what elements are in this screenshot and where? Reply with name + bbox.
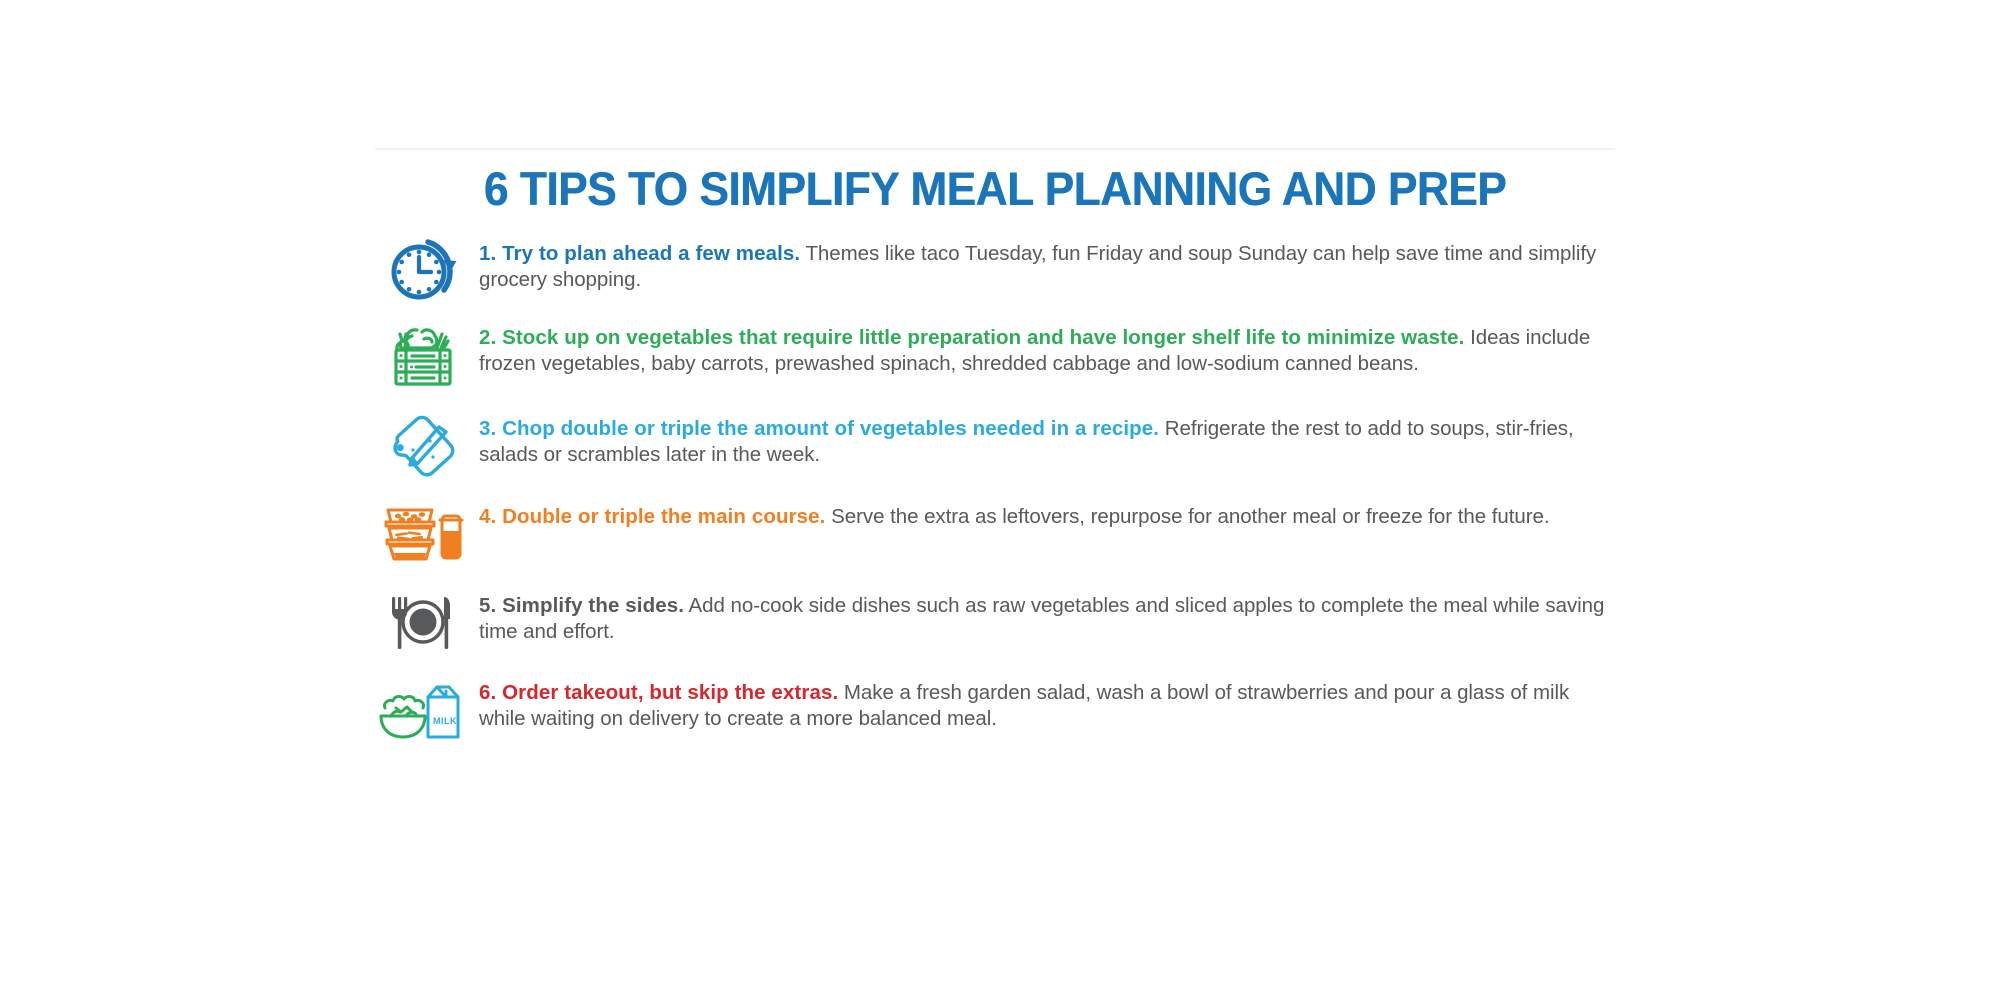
clock-with-arrow-icon: [375, 233, 471, 307]
list-item: 3. Chop double or triple the amount of v…: [375, 409, 1615, 483]
page-canvas: 6 TIPS TO SIMPLIFY MEAL PLANNING AND PRE…: [0, 0, 2000, 981]
cutting-board-knife-icon: [375, 409, 471, 483]
tip-lead: 1. Try to plan ahead a few meals.: [479, 242, 800, 265]
list-item: MILK 6. Order takeout, but skip the extr…: [375, 673, 1615, 747]
tip-lead: 3. Chop double or triple the amount of v…: [479, 417, 1159, 440]
tip-lead: 4. Double or triple the main course.: [479, 505, 825, 528]
list-item: 1. Try to plan ahead a few meals. Themes…: [375, 233, 1615, 307]
list-item: 2. Stock up on vegetables that require l…: [375, 321, 1615, 395]
tip-text: 1. Try to plan ahead a few meals. Themes…: [479, 233, 1615, 293]
tip-text: 6. Order takeout, but skip the extras. M…: [479, 673, 1615, 732]
page-title: 6 TIPS TO SIMPLIFY MEAL PLANNING AND PRE…: [412, 164, 1578, 215]
vegetable-crate-icon: [375, 321, 471, 395]
top-divider: [375, 148, 1615, 150]
list-item: 5. Simplify the sides. Add no-cook side …: [375, 585, 1615, 659]
tip-text: 5. Simplify the sides. Add no-cook side …: [479, 585, 1615, 645]
tip-lead: 5. Simplify the sides.: [479, 594, 684, 617]
list-item: 4. Double or triple the main course. Ser…: [375, 497, 1615, 571]
stacked-food-containers-icon: [375, 497, 471, 571]
infographic-card: 6 TIPS TO SIMPLIFY MEAL PLANNING AND PRE…: [375, 148, 1615, 761]
tip-text: 2. Stock up on vegetables that require l…: [479, 321, 1615, 377]
tip-lead: 6. Order takeout, but skip the extras.: [479, 681, 838, 704]
fork-plate-knife-icon: [375, 585, 471, 659]
milk-label: MILK: [433, 716, 457, 726]
tip-text: 3. Chop double or triple the amount of v…: [479, 409, 1615, 468]
tip-description: Serve the extra as leftovers, repurpose …: [831, 505, 1549, 528]
tips-list: 1. Try to plan ahead a few meals. Themes…: [375, 233, 1615, 747]
tip-lead: 2. Stock up on vegetables that require l…: [479, 326, 1464, 349]
tip-text: 4. Double or triple the main course. Ser…: [479, 497, 1615, 530]
salad-bowl-milk-carton-icon: MILK: [375, 673, 471, 747]
